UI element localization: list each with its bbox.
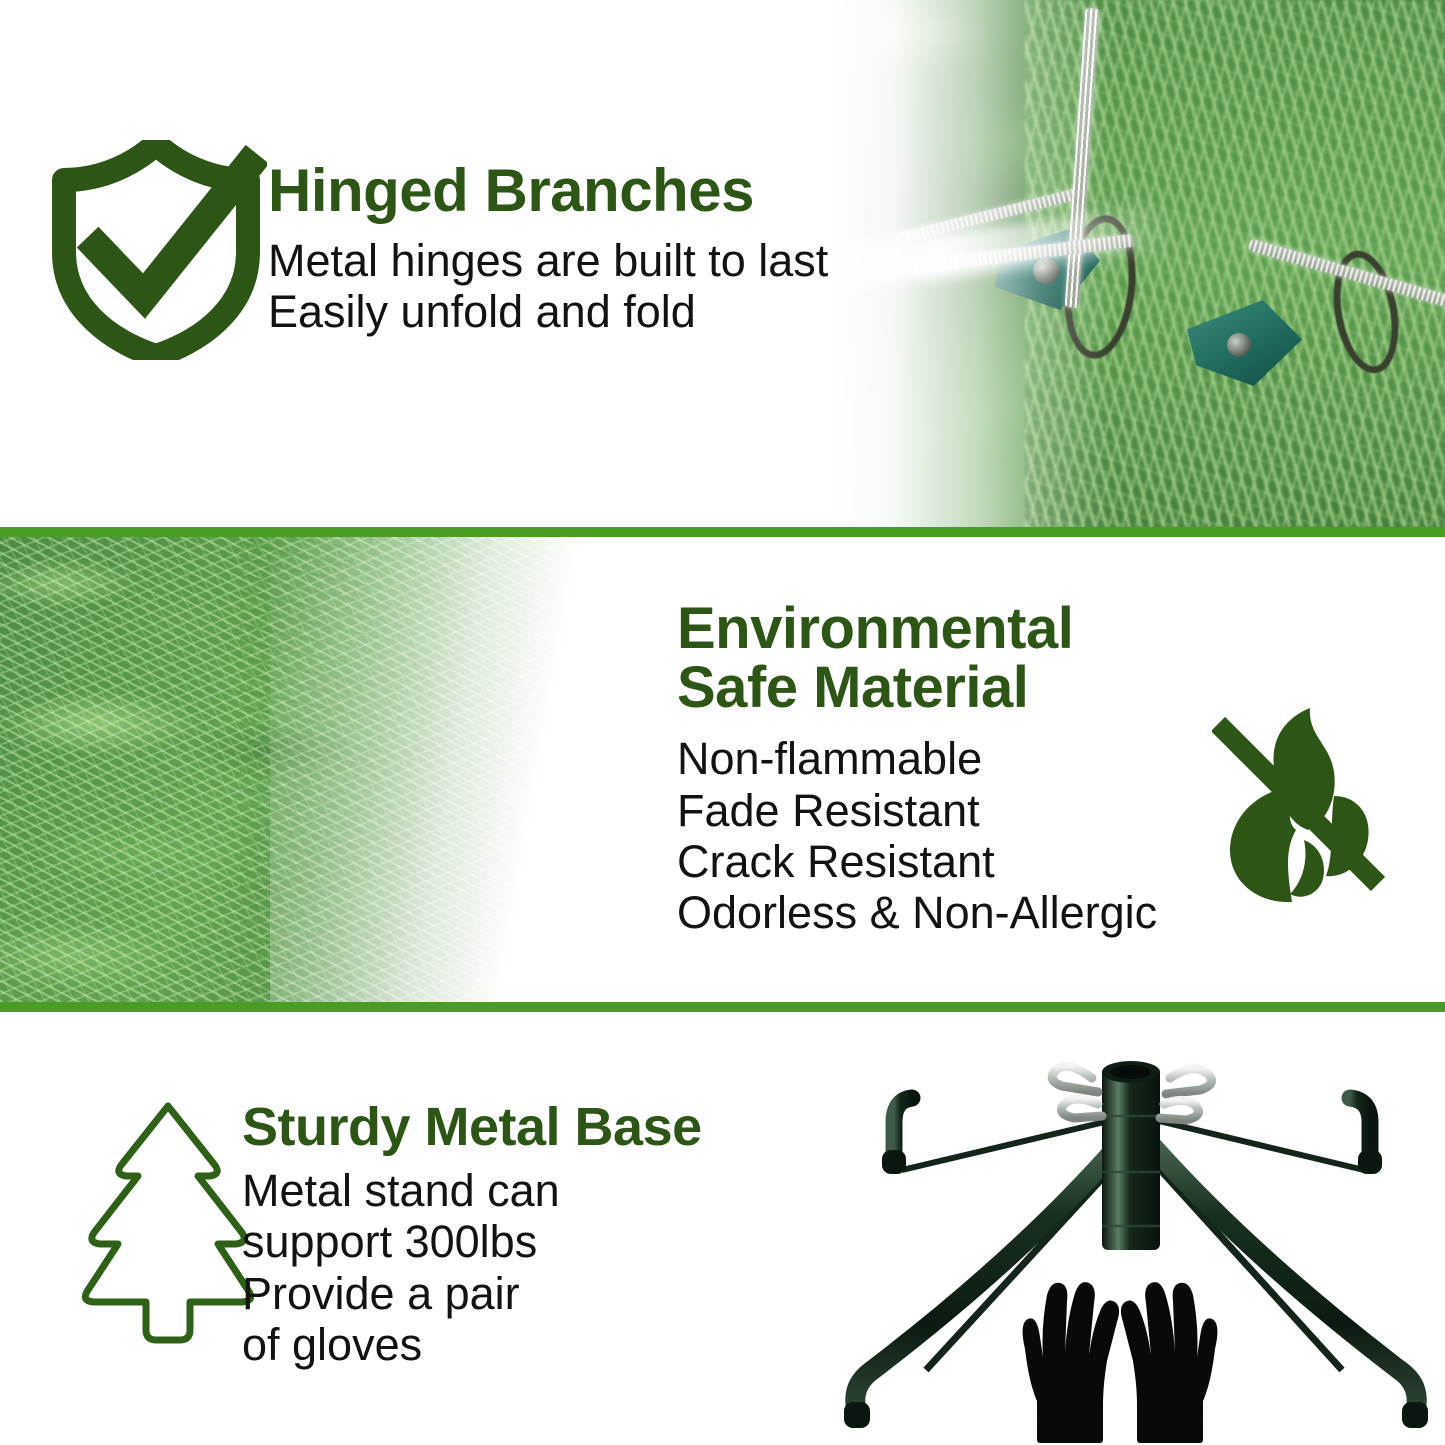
product-feature-infographic: Hinged Branches Metal hinges are built t…	[0, 0, 1445, 1445]
christmas-tree-outline-icon	[82, 1098, 254, 1348]
no-flame-icon	[1212, 700, 1412, 910]
panel-divider-2	[0, 1002, 1445, 1012]
panel-env-headline: Environmental Safe Material	[677, 599, 1157, 717]
black-gloves-pair-photo	[995, 1265, 1245, 1445]
shield-check-icon	[52, 140, 267, 360]
hinged-branch-closeup-photo	[775, 0, 1445, 527]
panel-divider-1	[0, 527, 1445, 537]
photo-white-edge-fade	[270, 537, 600, 1002]
hinged-branches-text-block: Hinged Branches Metal hinges are built t…	[268, 160, 828, 338]
panel-base-body: Metal stand can support 300lbs Provide a…	[242, 1165, 702, 1370]
metal-base-text-block: Sturdy Metal Base Metal stand can suppor…	[242, 1100, 702, 1370]
panel-base-headline: Sturdy Metal Base	[242, 1100, 702, 1155]
environmental-text-block: Environmental Safe Material Non-flammabl…	[677, 599, 1157, 939]
panel-hinged-headline: Hinged Branches	[268, 160, 828, 221]
panel-env-body: Non-flammable Fade Resistant Crack Resis…	[677, 733, 1157, 938]
panel-hinged-branches: Hinged Branches Metal hinges are built t…	[0, 0, 1445, 527]
spruce-foliage-photo	[0, 537, 600, 1002]
panel-hinged-body: Metal hinges are built to last Easily un…	[268, 235, 828, 338]
